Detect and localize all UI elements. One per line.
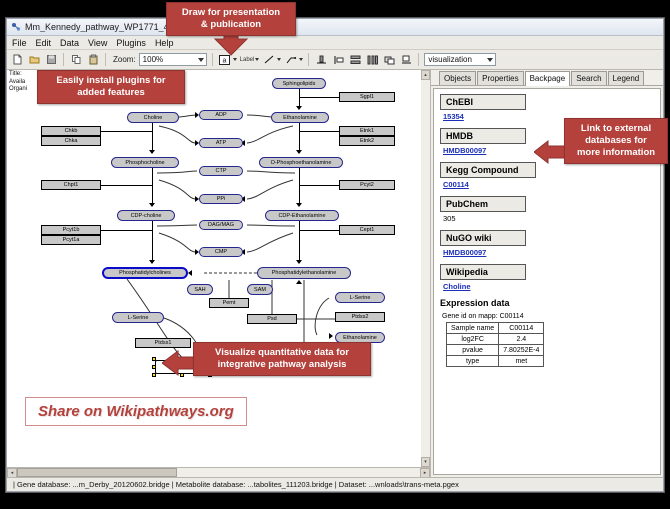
paste-icon[interactable] <box>86 53 100 67</box>
callout-link-text: Link to externaldatabases formore inform… <box>577 123 655 158</box>
selection-handle[interactable] <box>152 365 156 369</box>
line-icon[interactable] <box>262 53 276 67</box>
tab-search[interactable]: Search <box>571 71 606 85</box>
hscroll-track[interactable] <box>17 468 420 477</box>
node-label: ATP <box>216 140 226 146</box>
canvas-info-organism: Organi <box>9 86 27 94</box>
expr-value: C00114 <box>499 323 544 334</box>
node-ethanolamine[interactable]: Ethanolamine <box>271 112 329 123</box>
main-toolbar: Zoom: 100% a Label visualiz <box>7 50 663 70</box>
node-atp[interactable]: ATP <box>199 138 243 148</box>
node-label: SAH <box>194 287 205 293</box>
node-label: CDP-choline <box>131 213 162 219</box>
table-row: log2FC 2.4 <box>447 334 544 345</box>
callout-draw-text: Draw for presentation& publication <box>182 7 280 30</box>
toolbar-separator-4 <box>308 53 309 66</box>
vscroll-track[interactable] <box>421 80 430 457</box>
chevron-down-icon <box>255 58 259 61</box>
interaction-icon[interactable] <box>284 53 298 67</box>
copy-icon[interactable] <box>69 53 83 67</box>
side-pane-tabs: Objects Properties Backpage Search Legen… <box>431 70 663 86</box>
node-label: Etnk2 <box>360 138 374 144</box>
node-label: Psd <box>267 316 276 322</box>
canvas-info-labels: Title: Availa Organi <box>9 71 27 94</box>
arrow-icon <box>296 150 302 154</box>
tab-objects[interactable]: Objects <box>439 71 476 85</box>
gene-etnk1[interactable]: Etnk1 <box>339 126 395 136</box>
node-label: Pemt <box>223 300 236 306</box>
node-label: Chpt1 <box>64 182 79 188</box>
gene-pcyt2[interactable]: Pcyt2 <box>339 180 395 190</box>
order-back-icon[interactable] <box>382 53 396 67</box>
edge-cdpcholine-ptdcholine <box>152 221 153 263</box>
node-label: CDP-Ethanolamine <box>278 213 325 219</box>
node-o-phosphoethanolamine[interactable]: O-Phosphoethanolamine <box>259 157 343 168</box>
pathway-canvas[interactable]: Title: Availa Organi <box>7 70 431 477</box>
arrow-icon <box>149 203 155 207</box>
edge-pcyt1-connector <box>101 230 152 231</box>
node-label: PPi <box>217 196 226 202</box>
scroll-right-button[interactable]: ▸ <box>420 468 430 478</box>
chevron-down-icon <box>198 58 204 62</box>
expression-data-title: Expression data <box>440 298 654 308</box>
edge-cdpetn-ptdetn <box>299 221 300 263</box>
share-banner: Share on Wikipathways.org <box>25 397 247 426</box>
table-row: pvalue 7.80252E-4 <box>447 345 544 356</box>
gene-ptdss1[interactable]: Ptdss1 <box>135 338 191 348</box>
menu-bar: File Edit Data View Plugins Help <box>7 36 663 50</box>
section-header-wikipedia: Wikipedia <box>440 264 526 280</box>
node-label: Ptdss2 <box>352 314 369 320</box>
visualization-value: visualization <box>428 55 472 64</box>
node-label: Sgpl1 <box>360 94 374 100</box>
node-label: Cept1 <box>360 227 375 233</box>
save-icon[interactable] <box>44 53 58 67</box>
edge-etnk-connector <box>299 131 339 132</box>
tab-legend[interactable]: Legend <box>608 71 645 85</box>
gene-ptdss2[interactable]: Ptdss2 <box>335 312 385 322</box>
node-adp[interactable]: ADP <box>199 110 243 120</box>
edge-pcyt2-connector <box>299 185 339 186</box>
node-label: Phosphatidylcholines <box>119 270 171 276</box>
node-l-serine-right[interactable]: L-Serine <box>335 292 385 303</box>
node-label: SAM <box>254 287 266 293</box>
node-label: Chkb <box>65 128 78 134</box>
node-cmp[interactable]: CMP <box>199 247 243 257</box>
menu-item-edit[interactable]: Edit <box>35 38 53 48</box>
edge-choline-phosphocholine <box>152 123 153 153</box>
expr-key: log2FC <box>447 334 499 345</box>
expr-value: met <box>499 356 544 367</box>
callout-link-arrow <box>534 140 568 169</box>
toolbar-separator-5 <box>418 53 419 66</box>
node-cdp-ethanolamine[interactable]: CDP-Ethanolamine <box>265 210 339 221</box>
stack-icon[interactable] <box>348 53 362 67</box>
expression-table: Sample name C00114 log2FC 2.4 pvalue 7.8… <box>446 322 544 367</box>
hscroll-thumb[interactable] <box>17 468 177 477</box>
node-ppi[interactable]: PPi <box>199 194 243 204</box>
edge-chk-connector <box>101 131 152 132</box>
canvas-info-available: Availa <box>9 79 27 87</box>
chevron-down-icon <box>299 58 303 61</box>
selection-handle[interactable] <box>152 373 156 377</box>
gene-id-on-mapp: Gene id on mapp: C00114 <box>442 313 654 320</box>
section-header-nugo: NuGO wiki <box>440 230 526 246</box>
gene-chpt1[interactable]: Chpt1 <box>41 180 101 190</box>
node-label: Pcyt2 <box>360 182 374 188</box>
order-front-icon[interactable] <box>399 53 413 67</box>
zoom-value: 100% <box>143 55 163 64</box>
gene-etnk2[interactable]: Etnk2 <box>339 136 395 146</box>
canvas-hscrollbar[interactable]: ◂ ▸ <box>7 467 430 477</box>
arrow-icon <box>296 203 302 207</box>
node-label: L-Serine <box>350 295 371 301</box>
window-titlebar: Mm_Kennedy_pathway_WP1771_45176.gpml <box>7 19 663 36</box>
edge-cept1-connector <box>299 230 339 231</box>
menu-item-file[interactable]: File <box>11 38 28 48</box>
visualization-combo[interactable]: visualization <box>424 53 496 66</box>
node-label: Pcyt1b <box>63 227 80 233</box>
node-label: L-Serine <box>128 315 149 321</box>
scroll-down-button[interactable]: ▾ <box>421 457 430 467</box>
section-header-kegg: Kegg Compound <box>440 162 536 178</box>
node-label: Ptdss1 <box>155 340 172 346</box>
line-dropdown[interactable] <box>262 53 281 67</box>
node-phosphatidylethanolamine[interactable]: Phosphatidylethanolamine <box>257 267 351 279</box>
node-l-serine-left[interactable]: L-Serine <box>112 312 164 323</box>
callout-draw: Draw for presentation& publication <box>166 2 296 36</box>
kegg-link[interactable]: C00114 <box>443 180 654 189</box>
pathvisio-window: Mm_Kennedy_pathway_WP1771_45176.gpml Fil… <box>6 18 664 492</box>
node-label: CTP <box>216 168 227 174</box>
edge-phosphocholine-cdpcholine <box>152 168 153 206</box>
node-label: O-Phosphoethanolamine <box>271 160 332 166</box>
expr-value: 2.4 <box>499 334 544 345</box>
interaction-dropdown[interactable] <box>284 53 303 67</box>
menu-item-data[interactable]: Data <box>59 38 80 48</box>
expr-value: 7.80252E-4 <box>499 345 544 356</box>
align-top-icon[interactable] <box>314 53 328 67</box>
share-banner-text: Share on Wikipathways.org <box>38 403 234 420</box>
node-phosphocholine[interactable]: Phosphocholine <box>111 157 179 168</box>
node-sah[interactable]: SAH <box>187 284 213 295</box>
arrow-icon <box>149 150 155 154</box>
node-ctp[interactable]: CTP <box>199 166 243 176</box>
menu-item-plugins[interactable]: Plugins <box>115 38 147 48</box>
edge-chpt1-connector <box>101 185 152 186</box>
node-label: DAG/MAG <box>208 222 234 228</box>
callout-visualize: Visualize quantitative data forintegrati… <box>193 342 371 376</box>
gene-pcyt1b[interactable]: Pcyt1b <box>41 225 101 235</box>
callout-plugins-text: Easily install plugins foradded features <box>56 75 165 98</box>
arrow-icon <box>296 280 302 284</box>
align-left-icon[interactable] <box>331 53 345 67</box>
selection-handle[interactable] <box>152 357 156 361</box>
node-label: Phosphatidylethanolamine <box>272 270 337 276</box>
open-icon[interactable] <box>27 53 41 67</box>
section-header-pubchem: PubChem <box>440 196 526 212</box>
scroll-left-button[interactable]: ◂ <box>7 468 17 478</box>
expr-key: Sample name <box>447 323 499 334</box>
node-choline-top[interactable]: Choline <box>127 112 179 123</box>
node-label: Sphingolipids <box>283 81 316 87</box>
node-label: Ethanolamine <box>283 115 317 121</box>
edge-ethanolamine-ophospho <box>299 123 300 153</box>
arrow-icon <box>296 106 302 110</box>
gene-chkb[interactable]: Chkb <box>41 126 101 136</box>
tab-backpage[interactable]: Backpage <box>525 71 571 86</box>
toolbar-separator-1 <box>63 53 64 66</box>
table-row: Sample name C00114 <box>447 323 544 334</box>
toolbar-separator-2 <box>105 53 106 66</box>
nugo-link[interactable]: HMDB00097 <box>443 248 654 257</box>
tab-properties[interactable]: Properties <box>477 71 523 85</box>
node-phosphatidylcholines[interactable]: Phosphatidylcholines <box>102 267 188 279</box>
gene-sgpl1[interactable]: Sgpl1 <box>339 92 395 102</box>
section-header-chebi: ChEBI <box>440 94 526 110</box>
edge-ophospho-cdpetn <box>299 168 300 206</box>
scroll-up-button[interactable]: ▴ <box>421 70 430 80</box>
node-sphingolipids[interactable]: Sphingolipids <box>272 78 326 89</box>
zoom-label: Zoom: <box>113 55 136 64</box>
canvas-vscrollbar[interactable]: ▴ ▾ <box>421 70 430 467</box>
canvas-info-title: Title: <box>9 71 27 79</box>
node-label: Chka <box>65 138 78 144</box>
callout-plugins: Easily install plugins foradded features <box>37 70 185 104</box>
node-label: Choline <box>144 115 163 121</box>
menu-item-help[interactable]: Help <box>154 38 175 48</box>
gene-pcyt1a[interactable]: Pcyt1a <box>41 235 101 245</box>
pubchem-value: 305 <box>443 214 654 223</box>
arrow-icon <box>188 270 192 276</box>
expr-key: type <box>447 356 499 367</box>
node-label: Phosphocholine <box>125 160 164 166</box>
expr-key: pvalue <box>447 345 499 356</box>
node-label: Etnk1 <box>360 128 374 134</box>
node-dag-mag[interactable]: DAG/MAG <box>199 220 243 230</box>
pathvisio-icon <box>11 22 21 32</box>
status-bar: | Gene database: ...m_Derby_20120602.bri… <box>7 477 663 491</box>
node-sam[interactable]: SAM <box>247 284 273 295</box>
callout-link: Link to externaldatabases formore inform… <box>564 118 668 164</box>
menu-item-view[interactable]: View <box>87 38 108 48</box>
distribute-icon[interactable] <box>365 53 379 67</box>
node-label: Pcyt1a <box>63 237 80 243</box>
callout-visualize-text: Visualize quantitative data forintegrati… <box>215 347 349 370</box>
zoom-combo[interactable]: 100% <box>139 53 207 66</box>
edge-sgpl1-connector <box>299 97 339 98</box>
chevron-down-icon <box>277 58 281 61</box>
new-icon[interactable] <box>10 53 24 67</box>
node-label: CMP <box>215 249 227 255</box>
gene-psd[interactable]: Psd <box>247 314 297 324</box>
gene-chka[interactable]: Chka <box>41 136 101 146</box>
table-row: type met <box>447 356 544 367</box>
node-label: Ethanolamine <box>343 335 377 341</box>
gene-pemt[interactable]: Pemt <box>209 298 249 308</box>
status-bar-text: | Gene database: ...m_Derby_20120602.bri… <box>13 480 459 489</box>
arrow-icon <box>149 260 155 264</box>
node-label: ADP <box>215 112 226 118</box>
gene-cept1[interactable]: Cept1 <box>339 225 395 235</box>
chevron-down-icon <box>487 58 493 62</box>
node-cdp-choline[interactable]: CDP-choline <box>117 210 175 221</box>
arrow-icon <box>296 260 302 264</box>
section-header-hmdb: HMDB <box>440 128 526 144</box>
wikipedia-link[interactable]: Choline <box>443 282 654 291</box>
arrow-icon <box>329 333 333 339</box>
